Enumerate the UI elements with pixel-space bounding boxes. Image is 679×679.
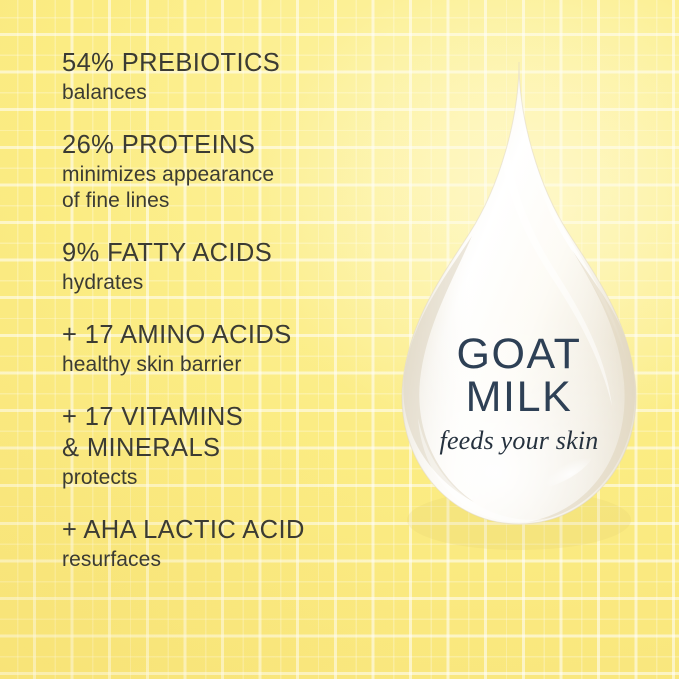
ingredient-heading: 9% FATTY ACIDS bbox=[62, 238, 382, 269]
ingredient-benefit: resurfaces bbox=[62, 547, 382, 573]
ingredient-benefit: balances bbox=[62, 80, 382, 106]
ingredient-list: 54% PREBIOTICS balances 26% PROTEINS min… bbox=[62, 48, 382, 573]
ingredient-heading: + 17 VITAMINS & MINERALS bbox=[62, 402, 382, 464]
ingredient-benefit: hydrates bbox=[62, 270, 382, 296]
list-item: 54% PREBIOTICS balances bbox=[62, 48, 382, 106]
list-item: 9% FATTY ACIDS hydrates bbox=[62, 238, 382, 296]
ingredient-benefit: healthy skin barrier bbox=[62, 352, 382, 378]
list-item: 26% PROTEINS minimizes appearance of fin… bbox=[62, 130, 382, 214]
list-item: + 17 VITAMINS & MINERALS protects bbox=[62, 402, 382, 491]
ingredient-heading: 54% PREBIOTICS bbox=[62, 48, 382, 79]
list-item: + AHA LACTIC ACID resurfaces bbox=[62, 515, 382, 573]
ingredient-heading: + 17 AMINO ACIDS bbox=[62, 320, 382, 351]
milk-droplet-icon bbox=[388, 58, 650, 554]
ingredient-heading: 26% PROTEINS bbox=[62, 130, 382, 161]
list-item: + 17 AMINO ACIDS healthy skin barrier bbox=[62, 320, 382, 378]
ingredient-benefit: minimizes appearance of fine lines bbox=[62, 162, 382, 214]
promo-graphic: 54% PREBIOTICS balances 26% PROTEINS min… bbox=[0, 0, 679, 679]
ingredient-heading: + AHA LACTIC ACID bbox=[62, 515, 382, 546]
ingredient-benefit: protects bbox=[62, 465, 382, 491]
